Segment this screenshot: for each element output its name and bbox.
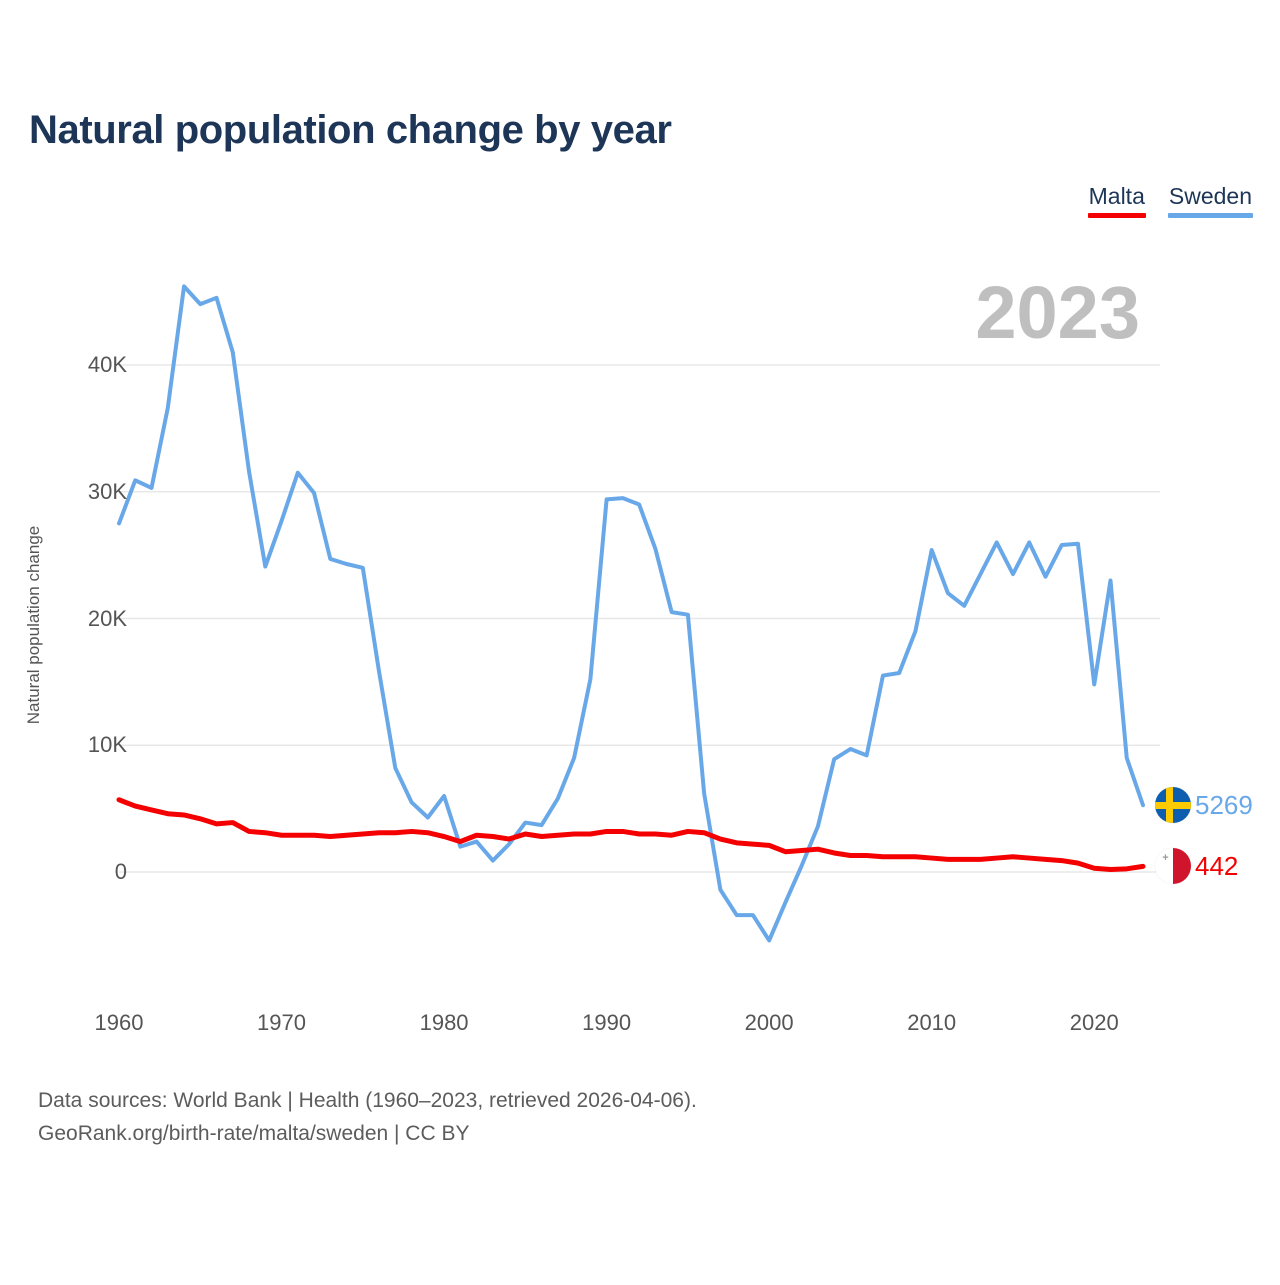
chart-container: Natural population change by year Malta … [0,0,1280,1280]
end-value-sweden: 5269 [1195,792,1253,818]
end-value-malta: 442 [1195,853,1238,879]
x-tick-label: 2000 [745,1010,794,1036]
sweden-flag-icon [1155,787,1191,823]
footer: Data sources: World Bank | Health (1960–… [38,1085,697,1150]
footer-data-sources: Data sources: World Bank | Health (1960–… [38,1085,697,1118]
end-label-malta: + 442 [1155,848,1238,884]
x-tick-label: 2010 [907,1010,956,1036]
series-line-sweden[interactable] [119,286,1143,940]
y-tick-label: 20K [88,606,127,632]
series-line-malta[interactable] [119,800,1143,870]
y-axis-title: Natural population change [24,505,44,745]
footer-attribution: GeoRank.org/birth-rate/malta/sweden | CC… [38,1118,697,1151]
y-tick-label: 30K [88,479,127,505]
y-tick-label: 10K [88,732,127,758]
x-tick-label: 1960 [95,1010,144,1036]
x-tick-label: 1970 [257,1010,306,1036]
malta-flag-icon: + [1155,848,1191,884]
end-label-sweden: 5269 [1155,787,1253,823]
y-tick-label: 40K [88,352,127,378]
y-tick-label: 0 [115,859,127,885]
x-tick-label: 1990 [582,1010,631,1036]
x-tick-label: 1980 [420,1010,469,1036]
x-tick-label: 2020 [1070,1010,1119,1036]
